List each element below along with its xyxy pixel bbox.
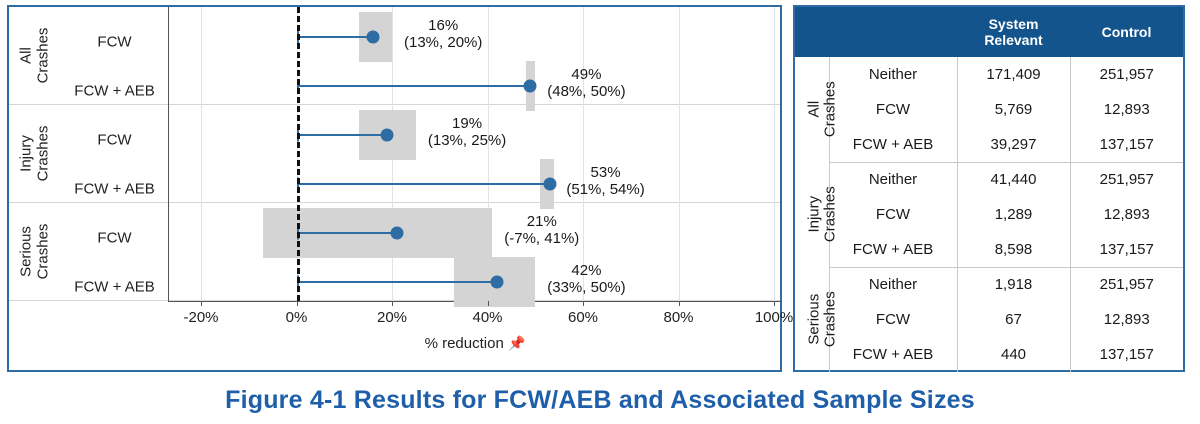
sample-size-table-panel: System Relevant Control All CrashesNeith… (793, 5, 1185, 372)
gridline (583, 7, 584, 301)
table-row: FCW1,28912,893 (795, 197, 1183, 232)
table-header-corner (795, 7, 829, 57)
pushpin-icon: 📌 (508, 335, 525, 351)
table-header-rowlabel (829, 7, 957, 57)
data-point-estimate: 53% (566, 164, 644, 181)
data-point-marker[interactable] (543, 178, 556, 191)
table-cell-control: 251,957 (1070, 57, 1183, 92)
x-tick-label: -20% (183, 309, 218, 326)
table-header-system-relevant-line1: System (989, 16, 1039, 32)
data-point-estimate: 16% (404, 17, 482, 34)
data-point-ci: (13%, 20%) (404, 34, 482, 51)
data-point-label: 16%(13%, 20%) (404, 17, 482, 52)
table-cell-control: 12,893 (1070, 302, 1183, 337)
data-point-label: 19%(13%, 25%) (428, 115, 506, 150)
chart-group-label-injury-crashes: Injury Crashes (9, 105, 61, 202)
table-row: FCW6712,893 (795, 302, 1183, 337)
x-tick-label: 20% (377, 309, 407, 326)
table-header: System Relevant Control (795, 7, 1183, 57)
chart-panel: All Crashes Injury Crashes Serious Crash… (7, 5, 782, 372)
table-cell-system-relevant: 1,289 (957, 197, 1070, 232)
data-point-ci: (13%, 25%) (428, 132, 506, 149)
gridline (774, 7, 775, 301)
table-header-control: Control (1070, 7, 1183, 57)
lollipop-stem (297, 36, 373, 38)
x-tick-mark (679, 301, 680, 306)
data-point-marker[interactable] (381, 129, 394, 142)
data-point-marker[interactable] (524, 80, 537, 93)
table-cell-system-relevant: 5,769 (957, 92, 1070, 127)
x-tick-label: 100% (755, 309, 793, 326)
x-tick-label: 80% (663, 309, 693, 326)
table-row: FCW5,76912,893 (795, 92, 1183, 127)
gridline (679, 7, 680, 301)
table-row-label: FCW (829, 92, 957, 127)
lollipop-stem (297, 183, 550, 185)
table-cell-control: 251,957 (1070, 267, 1183, 302)
data-point-label: 42%(33%, 50%) (547, 262, 625, 297)
x-tick-mark (774, 301, 775, 306)
table-cell-system-relevant: 39,297 (957, 127, 1070, 162)
chart-row-label-injury-fcw: FCW (61, 132, 168, 149)
x-tick-mark (488, 301, 489, 306)
data-point-ci: (33%, 50%) (547, 279, 625, 296)
table-header-row: System Relevant Control (795, 7, 1183, 57)
chart-row-label-injury-fcwaeb: FCW + AEB (61, 181, 168, 198)
table-cell-control: 12,893 (1070, 197, 1183, 232)
table-group-label: Injury Crashes (795, 162, 829, 267)
table-cell-control: 12,893 (1070, 92, 1183, 127)
lollipop-stem (297, 232, 397, 234)
table-row: FCW + AEB39,297137,157 (795, 127, 1183, 162)
plot-area: 16%(13%, 20%)49%(48%, 50%)19%(13%, 25%)5… (168, 7, 782, 301)
data-point-estimate: 49% (547, 66, 625, 83)
table-header-system-relevant-line2: Relevant (984, 32, 1042, 48)
table-group-label-text: Serious Crashes (807, 292, 839, 348)
chart-row-label-serious-fcw: FCW (61, 230, 168, 247)
data-point-marker[interactable] (366, 31, 379, 44)
table-group-label-text: Injury Crashes (807, 187, 839, 243)
x-axis-title: % reduction 📌 (168, 335, 782, 352)
data-point-label: 49%(48%, 50%) (547, 66, 625, 101)
zero-reference-line (297, 7, 300, 301)
table-body: All CrashesNeither171,409251,957FCW5,769… (795, 57, 1183, 372)
x-tick-label: 0% (286, 309, 308, 326)
data-point-label: 21%(-7%, 41%) (504, 213, 579, 248)
table-row-label: FCW + AEB (829, 232, 957, 267)
figure-caption: Figure 4-1 Results for FCW/AEB and Assoc… (0, 386, 1200, 415)
lollipop-stem (297, 85, 531, 87)
chart-group-label-all-crashes: All Crashes (9, 7, 61, 104)
table-row: Injury CrashesNeither41,440251,957 (795, 162, 1183, 197)
x-axis-title-text: % reduction (425, 335, 504, 352)
table-row-label: FCW + AEB (829, 337, 957, 372)
table-cell-system-relevant: 41,440 (957, 162, 1070, 197)
chart-group-label-serious-crashes: Serious Crashes (9, 203, 61, 300)
chart-row-label-serious-fcwaeb: FCW + AEB (61, 279, 168, 296)
lollipop-stem (297, 134, 388, 136)
data-point-label: 53%(51%, 54%) (566, 164, 644, 199)
table-cell-system-relevant: 67 (957, 302, 1070, 337)
table-cell-system-relevant: 440 (957, 337, 1070, 372)
table-row: Serious CrashesNeither1,918251,957 (795, 267, 1183, 302)
table-cell-control: 137,157 (1070, 337, 1183, 372)
x-tick-label: 60% (568, 309, 598, 326)
table-header-system-relevant: System Relevant (957, 7, 1070, 57)
gridline (201, 7, 202, 301)
table-group-label: All Crashes (795, 57, 829, 162)
sample-size-table: System Relevant Control All CrashesNeith… (795, 7, 1183, 372)
x-tick-mark (392, 301, 393, 306)
table-row-label: Neither (829, 267, 957, 302)
data-point-ci: (51%, 54%) (566, 181, 644, 198)
x-tick-mark (201, 301, 202, 306)
data-point-estimate: 21% (504, 213, 579, 230)
table-cell-control: 137,157 (1070, 127, 1183, 162)
table-row-label: Neither (829, 57, 957, 92)
table-cell-system-relevant: 8,598 (957, 232, 1070, 267)
table-group-label: Serious Crashes (795, 267, 829, 372)
table-cell-control: 251,957 (1070, 162, 1183, 197)
table-row-label: FCW (829, 302, 957, 337)
table-row-label: FCW + AEB (829, 127, 957, 162)
table-cell-system-relevant: 1,918 (957, 267, 1070, 302)
table-group-label-text: All Crashes (807, 82, 839, 138)
data-point-ci: (48%, 50%) (547, 83, 625, 100)
data-point-marker[interactable] (491, 276, 504, 289)
table-row: FCW + AEB8,598137,157 (795, 232, 1183, 267)
data-point-estimate: 42% (547, 262, 625, 279)
table-row: FCW + AEB440137,157 (795, 337, 1183, 372)
x-tick-mark (583, 301, 584, 306)
lollipop-stem (297, 281, 498, 283)
table-cell-control: 137,157 (1070, 232, 1183, 267)
table-cell-system-relevant: 171,409 (957, 57, 1070, 92)
x-tick-mark (297, 301, 298, 306)
chart-row-label-all-fcwaeb: FCW + AEB (61, 83, 168, 100)
chart-row-label-all-fcw: FCW (61, 34, 168, 51)
data-point-marker[interactable] (390, 227, 403, 240)
data-point-ci: (-7%, 41%) (504, 230, 579, 247)
table-row-label: Neither (829, 162, 957, 197)
table-row: All CrashesNeither171,409251,957 (795, 57, 1183, 92)
data-point-estimate: 19% (428, 115, 506, 132)
x-tick-label: 40% (472, 309, 502, 326)
table-row-label: FCW (829, 197, 957, 232)
